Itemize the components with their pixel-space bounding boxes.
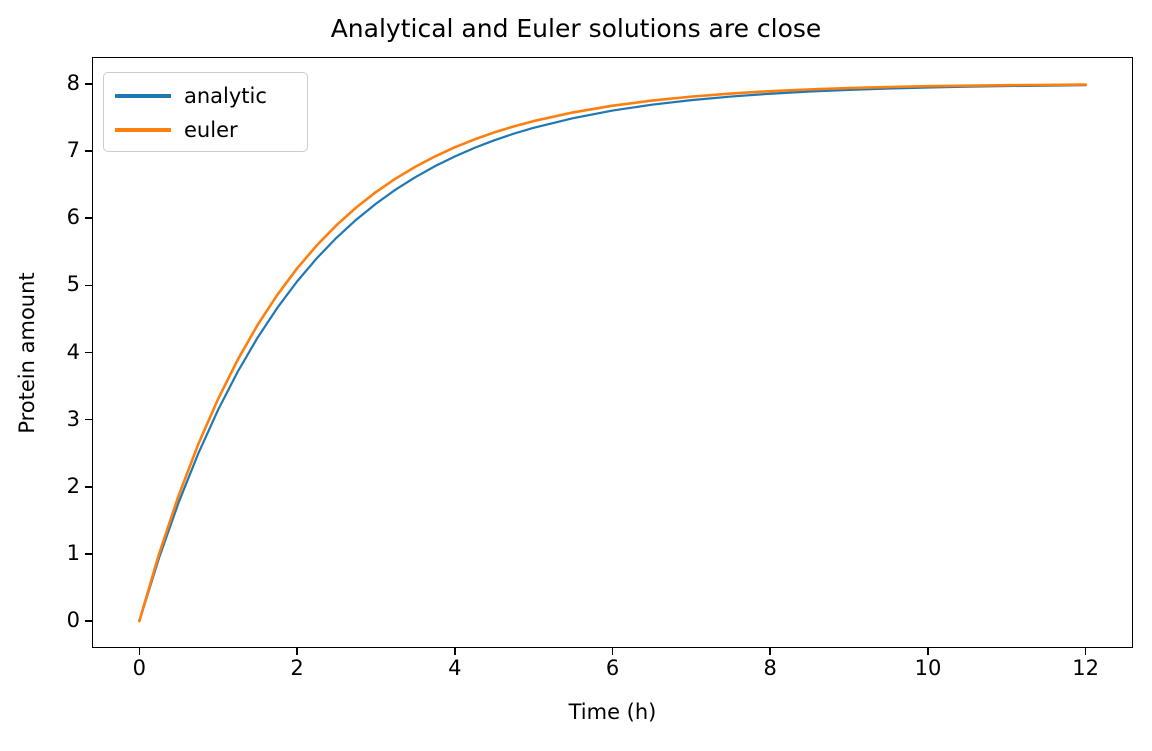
legend-entry-analytic: analytic — [115, 80, 301, 112]
x-tick-label: 8 — [740, 658, 800, 679]
legend-swatch-euler — [115, 128, 171, 132]
x-tick-mark — [1085, 648, 1087, 655]
y-tick-mark — [85, 352, 92, 354]
y-tick-label: 6 — [40, 207, 80, 228]
x-tick-mark — [612, 648, 614, 655]
y-tick-label: 7 — [40, 140, 80, 161]
legend: analyticeuler — [103, 72, 308, 152]
x-tick-label: 10 — [898, 658, 958, 679]
x-tick-label: 0 — [109, 658, 169, 679]
legend-swatch-analytic — [115, 94, 171, 98]
x-tick-mark — [454, 648, 456, 655]
y-tick-label: 5 — [40, 274, 80, 295]
matplotlib-figure: Analytical and Euler solutions are close… — [0, 0, 1152, 751]
y-tick-mark — [85, 217, 92, 219]
y-tick-mark — [85, 150, 92, 152]
y-tick-label: 8 — [40, 73, 80, 94]
y-tick-label: 4 — [40, 342, 80, 363]
y-tick-mark — [85, 419, 92, 421]
y-tick-label: 3 — [40, 409, 80, 430]
x-tick-label: 12 — [1056, 658, 1116, 679]
chart-title: Analytical and Euler solutions are close — [0, 14, 1152, 43]
x-tick-mark — [139, 648, 141, 655]
x-tick-mark — [296, 648, 298, 655]
y-tick-label: 1 — [40, 543, 80, 564]
legend-label-euler: euler — [184, 114, 238, 146]
x-tick-label: 2 — [267, 658, 327, 679]
y-tick-mark — [85, 553, 92, 555]
x-tick-mark — [769, 648, 771, 655]
y-tick-mark — [85, 285, 92, 287]
series-line-euler — [139, 85, 1085, 622]
x-tick-label: 6 — [583, 658, 643, 679]
y-tick-label: 0 — [40, 610, 80, 631]
series-line-analytic — [139, 85, 1085, 621]
data-series-group — [139, 85, 1085, 622]
legend-entry-euler: euler — [115, 114, 301, 146]
y-tick-mark — [85, 620, 92, 622]
y-axis-label: Protein amount — [15, 233, 39, 473]
legend-label-analytic: analytic — [184, 80, 267, 112]
y-tick-mark — [85, 83, 92, 85]
x-axis-label: Time (h) — [92, 700, 1133, 724]
x-tick-mark — [927, 648, 929, 655]
x-tick-label: 4 — [425, 658, 485, 679]
y-tick-mark — [85, 486, 92, 488]
y-tick-label: 2 — [40, 476, 80, 497]
